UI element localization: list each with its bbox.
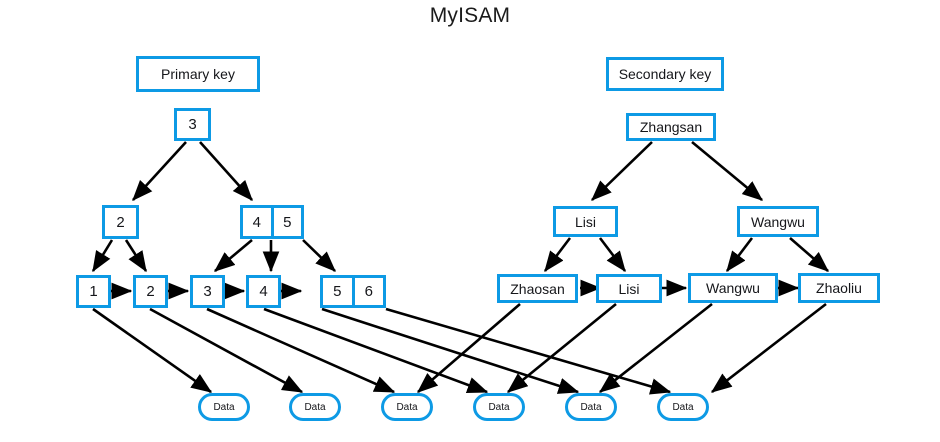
node-cell: 4 [249, 278, 278, 305]
secondary-leaf-lisi[interactable]: Lisi [596, 274, 662, 303]
secondary-key-header: Secondary key [606, 57, 724, 91]
diagram-canvas: MyISAM [0, 0, 940, 442]
edge-lisi-to-leaflisi [600, 238, 625, 271]
edge-zhangsan-to-lisi [592, 142, 652, 200]
edge-zhaosan-to-data [418, 304, 520, 392]
secondary-internal-node-right[interactable]: Wangwu [737, 206, 819, 237]
edge-n45-to-leaf3 [215, 240, 252, 271]
node-cell: 3 [177, 111, 208, 138]
edge-leafwangwu-to-data [600, 304, 712, 392]
edge-leaf5-to-data5 [322, 309, 578, 392]
page-title: MyISAM [0, 4, 940, 28]
edge-root3-to-n45 [200, 142, 252, 200]
edge-zhaoliu-to-data [712, 304, 826, 392]
data-node-4[interactable]: Data [473, 393, 525, 421]
secondary-leaf-zhaoliu[interactable]: Zhaoliu [798, 273, 880, 303]
edge-n2-to-leaf2 [126, 240, 146, 271]
data-node-6[interactable]: Data [657, 393, 709, 421]
data-node-label: Data [304, 402, 325, 413]
secondary-root-node[interactable]: Zhangsan [626, 113, 716, 141]
node-cell: 5 [271, 208, 302, 236]
node-cell: Wangwu [740, 209, 816, 234]
data-node-label: Data [488, 402, 509, 413]
data-node-5[interactable]: Data [565, 393, 617, 421]
node-cell: 3 [193, 278, 222, 305]
node-cell: Lisi [556, 209, 615, 234]
edge-leaflisi-to-data [508, 304, 616, 392]
secondary-leaf-wangwu[interactable]: Wangwu [688, 273, 778, 303]
node-cell: 6 [352, 278, 384, 305]
primary-leaf-2[interactable]: 2 [133, 275, 168, 308]
edge-lisi-to-zhaosan [545, 238, 570, 271]
primary-leaf-4[interactable]: 4 [246, 275, 281, 308]
primary-internal-node-left[interactable]: 2 [102, 205, 139, 239]
edge-n2-to-leaf1 [93, 240, 112, 271]
secondary-internal-node-left[interactable]: Lisi [553, 206, 618, 237]
edge-n45-to-leaf5 [303, 240, 335, 271]
primary-leaf-5[interactable]: 5 6 [320, 275, 386, 308]
data-node-label: Data [672, 402, 693, 413]
primary-leaf-3[interactable]: 3 [190, 275, 225, 308]
data-node-label: Data [580, 402, 601, 413]
node-cell: Wangwu [691, 276, 775, 300]
edge-leaf1-to-data1 [93, 309, 211, 392]
edge-root3-to-n2 [133, 142, 186, 200]
data-node-2[interactable]: Data [289, 393, 341, 421]
node-cell: 2 [136, 278, 165, 305]
edge-leaf3-to-data3 [207, 309, 394, 392]
data-node-1[interactable]: Data [198, 393, 250, 421]
edge-zhangsan-to-wangwu [692, 142, 762, 200]
primary-root-node[interactable]: 3 [174, 108, 211, 141]
node-cell: Zhangsan [629, 116, 713, 138]
node-cell: 4 [243, 208, 271, 236]
node-cell: Lisi [599, 277, 659, 300]
edge-leaf6-to-data6 [386, 309, 670, 392]
secondary-key-header-label: Secondary key [609, 60, 721, 88]
data-node-label: Data [396, 402, 417, 413]
primary-key-header: Primary key [136, 56, 260, 92]
node-cell: 1 [79, 278, 108, 305]
primary-internal-node-right[interactable]: 4 5 [240, 205, 304, 239]
data-node-3[interactable]: Data [381, 393, 433, 421]
primary-key-header-label: Primary key [139, 59, 257, 89]
data-node-label: Data [213, 402, 234, 413]
node-cell: Zhaoliu [801, 276, 877, 300]
secondary-leaf-zhaosan[interactable]: Zhaosan [497, 274, 578, 303]
primary-leaf-1[interactable]: 1 [76, 275, 111, 308]
edge-wangwu-to-zhaoliu [790, 238, 828, 271]
edge-wangwu-to-leafwangwu [727, 238, 752, 271]
edge-leaf2-to-data2 [150, 309, 302, 392]
node-cell: Zhaosan [500, 277, 575, 300]
edge-leaf4-to-data4 [264, 309, 487, 392]
node-cell: 5 [323, 278, 352, 305]
node-cell: 2 [105, 208, 136, 236]
